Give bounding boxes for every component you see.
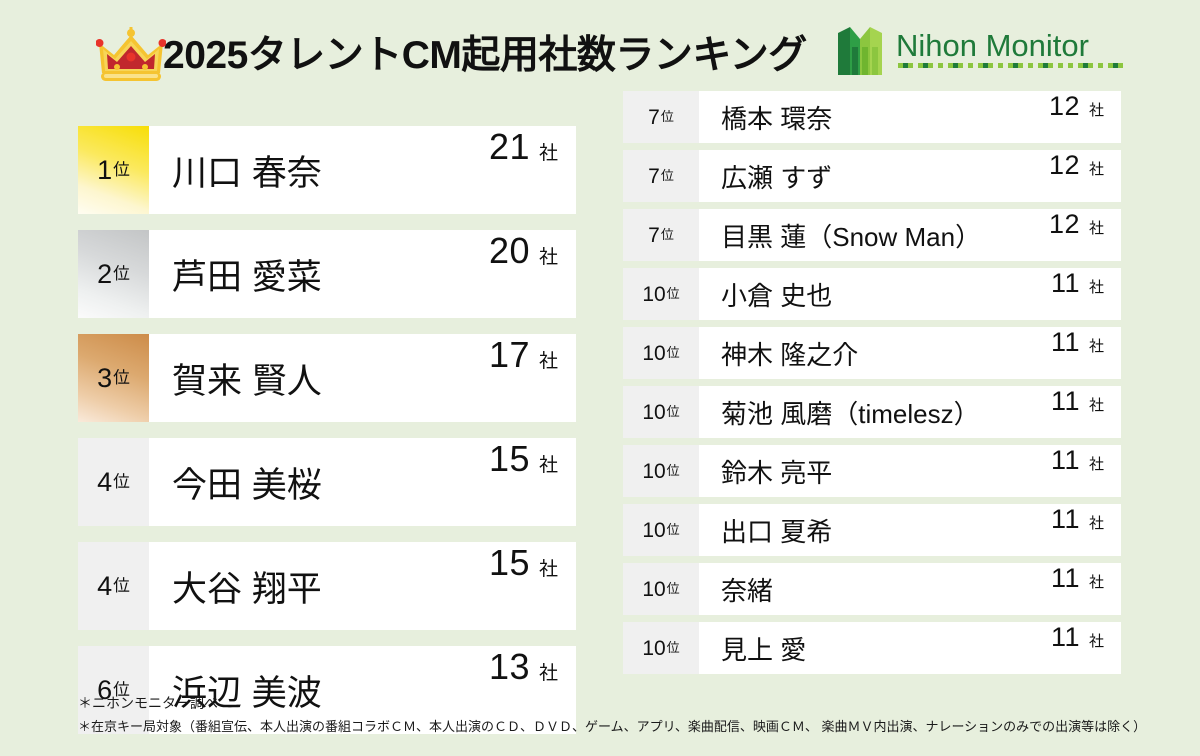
ranking-row: 10位出口 夏希11社 [623, 504, 1121, 556]
rank-badge: 1位 [78, 126, 149, 214]
rank-badge: 7位 [623, 150, 699, 202]
company-count: 15社 [489, 438, 576, 526]
company-count-unit: 社 [1089, 630, 1104, 651]
rank-suffix: 位 [667, 287, 680, 300]
talent-name: 大谷 翔平 [149, 542, 489, 630]
rank-number: 10 [642, 579, 665, 600]
rank-badge: 3位 [78, 334, 149, 422]
rank-badge: 7位 [623, 91, 699, 143]
talent-name: 賀来 賢人 [149, 334, 489, 422]
ranking-row: 4位今田 美桜15社 [78, 438, 576, 526]
brand-logo: Nihon Monitor [836, 25, 1132, 77]
rank-number: 4 [97, 469, 112, 496]
talent-name: 奈緒 [699, 563, 1051, 615]
company-count: 20社 [489, 230, 576, 318]
ranking-row: 10位小倉 史也11社 [623, 268, 1121, 320]
rank-number: 7 [648, 225, 660, 246]
ranking-column-right: 7位橋本 環奈12社7位広瀬 すず12社7位目黒 蓮（Snow Man）12社1… [623, 91, 1121, 681]
rank-badge: 10位 [623, 386, 699, 438]
company-count: 12社 [1049, 91, 1121, 143]
rank-number: 10 [642, 520, 665, 541]
rank-badge: 10位 [623, 268, 699, 320]
talent-name: 橋本 環奈 [699, 91, 1049, 143]
company-count-value: 11 [1051, 386, 1080, 417]
page-header: 2025タレントCM起用社数ランキング Nihon Monitor [0, 0, 1200, 96]
company-count-value: 17 [489, 334, 530, 376]
talent-name: 今田 美桜 [149, 438, 489, 526]
rank-number: 10 [642, 284, 665, 305]
company-count-unit: 社 [1089, 335, 1104, 356]
rank-suffix: 位 [667, 641, 680, 654]
nihon-monitor-logo-mark-icon [836, 25, 884, 77]
company-count-unit: 社 [539, 138, 558, 165]
company-count-value: 11 [1051, 563, 1080, 594]
rank-number: 10 [642, 402, 665, 423]
rank-number: 10 [642, 461, 665, 482]
company-count: 17社 [489, 334, 576, 422]
company-count: 15社 [489, 542, 576, 630]
company-count-unit: 社 [1089, 571, 1104, 592]
company-count-value: 11 [1051, 504, 1080, 535]
crown-icon [96, 27, 166, 85]
company-count-value: 11 [1051, 327, 1080, 358]
company-count-unit: 社 [539, 658, 558, 685]
ranking-row: 10位神木 隆之介11社 [623, 327, 1121, 379]
ranking-row: 7位広瀬 すず12社 [623, 150, 1121, 202]
company-count-unit: 社 [1089, 217, 1104, 238]
ranking-row: 3位賀来 賢人17社 [78, 334, 576, 422]
company-count-value: 21 [489, 126, 530, 168]
company-count: 11社 [1051, 268, 1121, 320]
company-count-unit: 社 [539, 450, 558, 477]
rank-number: 10 [642, 343, 665, 364]
company-count-value: 12 [1049, 150, 1080, 181]
talent-name: 神木 隆之介 [699, 327, 1051, 379]
company-count-value: 15 [489, 438, 530, 480]
rank-number: 4 [97, 573, 112, 600]
footnotes: ＊ニホンモニター調べ ＊在京キー局対象（番組宣伝、本人出演の番組コラボＣＭ、本人… [78, 692, 1148, 738]
company-count-unit: 社 [539, 554, 558, 581]
company-count: 21社 [489, 126, 576, 214]
talent-name: 菊池 風磨（timelesz） [699, 386, 1051, 438]
company-count-unit: 社 [539, 242, 558, 269]
company-count-value: 11 [1051, 622, 1080, 653]
ranking-row: 1位川口 春奈21社 [78, 126, 576, 214]
rank-suffix: 位 [667, 405, 680, 418]
company-count-value: 12 [1049, 209, 1080, 240]
talent-name: 小倉 史也 [699, 268, 1051, 320]
rank-suffix: 位 [113, 578, 130, 595]
company-count-value: 13 [489, 646, 530, 688]
rank-number: 7 [648, 107, 660, 128]
ranking-row: 10位菊池 風磨（timelesz）11社 [623, 386, 1121, 438]
company-count-value: 20 [489, 230, 530, 272]
rank-badge: 10位 [623, 327, 699, 379]
rank-suffix: 位 [667, 464, 680, 477]
company-count-unit: 社 [1089, 453, 1104, 474]
talent-name: 広瀬 すず [699, 150, 1049, 202]
rank-badge: 4位 [78, 438, 149, 526]
company-count: 11社 [1051, 386, 1121, 438]
talent-name: 鈴木 亮平 [699, 445, 1051, 497]
talent-name: 出口 夏希 [699, 504, 1051, 556]
rank-badge: 7位 [623, 209, 699, 261]
rank-suffix: 位 [113, 474, 130, 491]
company-count-value: 15 [489, 542, 530, 584]
rank-suffix: 位 [113, 266, 130, 283]
ranking-row: 2位芦田 愛菜20社 [78, 230, 576, 318]
company-count-unit: 社 [1089, 394, 1104, 415]
rank-suffix: 位 [661, 110, 674, 123]
rank-badge: 10位 [623, 563, 699, 615]
company-count-value: 11 [1051, 445, 1080, 476]
talent-name: 見上 愛 [699, 622, 1051, 674]
ranking-row: 7位橋本 環奈12社 [623, 91, 1121, 143]
rank-suffix: 位 [667, 346, 680, 359]
talent-name: 川口 春奈 [149, 126, 489, 214]
rank-suffix: 位 [113, 370, 130, 387]
rank-number: 10 [642, 638, 665, 659]
rank-suffix: 位 [661, 228, 674, 241]
svg-text:Nihon Monitor: Nihon Monitor [896, 28, 1089, 63]
ranking-row: 4位大谷 翔平15社 [78, 542, 576, 630]
company-count: 11社 [1051, 504, 1121, 556]
company-count-unit: 社 [1089, 158, 1104, 179]
rank-badge: 4位 [78, 542, 149, 630]
rank-suffix: 位 [667, 523, 680, 536]
company-count: 11社 [1051, 445, 1121, 497]
company-count-unit: 社 [539, 346, 558, 373]
talent-name: 芦田 愛菜 [149, 230, 489, 318]
rank-badge: 10位 [623, 622, 699, 674]
rank-number: 2 [97, 261, 112, 288]
company-count-unit: 社 [1089, 512, 1104, 533]
ranking-column-left: 1位川口 春奈21社2位芦田 愛菜20社3位賀来 賢人17社4位今田 美桜15社… [78, 126, 576, 750]
ranking-row: 7位目黒 蓮（Snow Man）12社 [623, 209, 1121, 261]
footnote-scope: ＊在京キー局対象（番組宣伝、本人出演の番組コラボＣＭ、本人出演のＣＤ、ＤＶＤ、ゲ… [78, 716, 1148, 738]
brand-wordmark: Nihon Monitor [896, 26, 1132, 77]
rank-badge: 2位 [78, 230, 149, 318]
company-count: 11社 [1051, 563, 1121, 615]
ranking-row: 10位鈴木 亮平11社 [623, 445, 1121, 497]
company-count-value: 12 [1049, 91, 1080, 122]
rank-badge: 10位 [623, 504, 699, 556]
rank-number: 3 [97, 365, 112, 392]
ranking-row: 10位奈緒11社 [623, 563, 1121, 615]
company-count: 11社 [1051, 327, 1121, 379]
rank-suffix: 位 [667, 582, 680, 595]
company-count: 12社 [1049, 209, 1121, 261]
rank-suffix: 位 [661, 169, 674, 182]
rank-badge: 10位 [623, 445, 699, 497]
company-count-value: 11 [1051, 268, 1080, 299]
page-title: 2025タレントCM起用社数ランキング [163, 30, 807, 82]
company-count-unit: 社 [1089, 276, 1104, 297]
company-count-unit: 社 [1089, 99, 1104, 120]
company-count: 12社 [1049, 150, 1121, 202]
rank-number: 1 [97, 157, 112, 184]
company-count: 11社 [1051, 622, 1121, 674]
talent-name: 目黒 蓮（Snow Man） [699, 209, 1049, 261]
rank-suffix: 位 [113, 162, 130, 179]
ranking-row: 10位見上 愛11社 [623, 622, 1121, 674]
rank-number: 7 [648, 166, 660, 187]
footnote-source: ＊ニホンモニター調べ [78, 692, 1148, 716]
